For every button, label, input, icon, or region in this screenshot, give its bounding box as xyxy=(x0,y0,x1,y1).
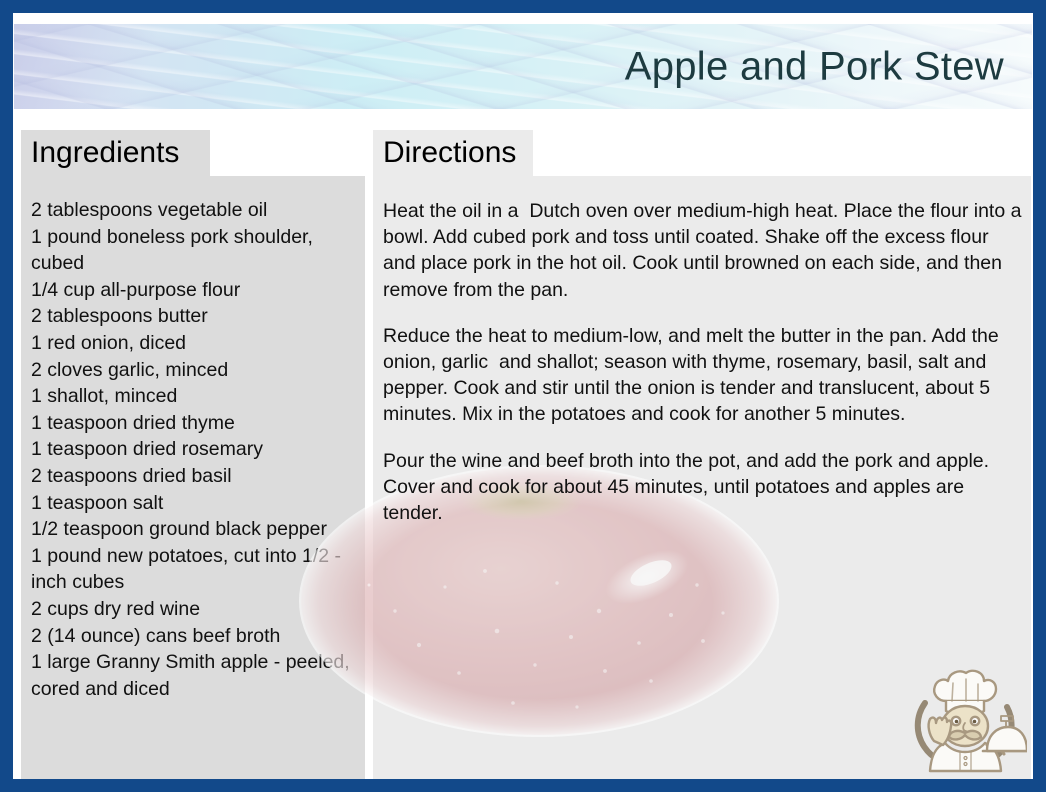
ingredient-item: 2 cloves garlic, minced xyxy=(31,357,359,384)
ingredient-item: 1 pound boneless pork shoulder, cubed xyxy=(31,224,359,277)
recipe-slide: Apple and Pork Stew Ingredients 2 tables… xyxy=(0,0,1046,792)
page-title: Apple and Pork Stew xyxy=(625,44,1004,89)
directions-heading: Directions xyxy=(373,138,516,168)
ingredient-item: 2 tablespoons vegetable oil xyxy=(31,197,359,224)
header-banner: Apple and Pork Stew xyxy=(14,24,1032,109)
ingredient-item: 1 teaspoon dried thyme xyxy=(31,410,359,437)
ingredient-item: 1/4 cup all-purpose flour xyxy=(31,277,359,304)
ingredients-list: 2 tablespoons vegetable oil1 pound bonel… xyxy=(21,176,365,702)
chef-logo xyxy=(905,655,1027,777)
ingredient-item: 1 large Granny Smith apple - peeled, cor… xyxy=(31,649,359,702)
ingredient-item: 2 tablespoons butter xyxy=(31,303,359,330)
ingredient-item: 1 red onion, diced xyxy=(31,330,359,357)
ingredient-item: 2 (14 ounce) cans beef broth xyxy=(31,623,359,650)
ingredient-item: 1 shallot, minced xyxy=(31,383,359,410)
direction-paragraph: Pour the wine and beef broth into the po… xyxy=(383,448,1023,527)
ingredient-item: 1 teaspoon salt xyxy=(31,490,359,517)
ingredient-item: 1 pound new potatoes, cut into 1/2 -inch… xyxy=(31,543,359,596)
directions-heading-box: Directions xyxy=(373,130,533,176)
direction-paragraph: Reduce the heat to medium-low, and melt … xyxy=(383,323,1023,428)
ingredient-item: 1 teaspoon dried rosemary xyxy=(31,436,359,463)
slide-content-area: Apple and Pork Stew Ingredients 2 tables… xyxy=(13,13,1033,779)
ingredients-heading: Ingredients xyxy=(21,138,179,168)
ingredient-item: 2 cups dry red wine xyxy=(31,596,359,623)
ingredient-item: 1/2 teaspoon ground black pepper xyxy=(31,516,359,543)
ingredients-heading-box: Ingredients xyxy=(21,130,210,176)
directions-text: Heat the oil in a Dutch oven over medium… xyxy=(373,176,1031,526)
ingredients-panel: 2 tablespoons vegetable oil1 pound bonel… xyxy=(21,176,365,779)
ingredient-item: 2 teaspoons dried basil xyxy=(31,463,359,490)
direction-paragraph: Heat the oil in a Dutch oven over medium… xyxy=(383,198,1023,303)
